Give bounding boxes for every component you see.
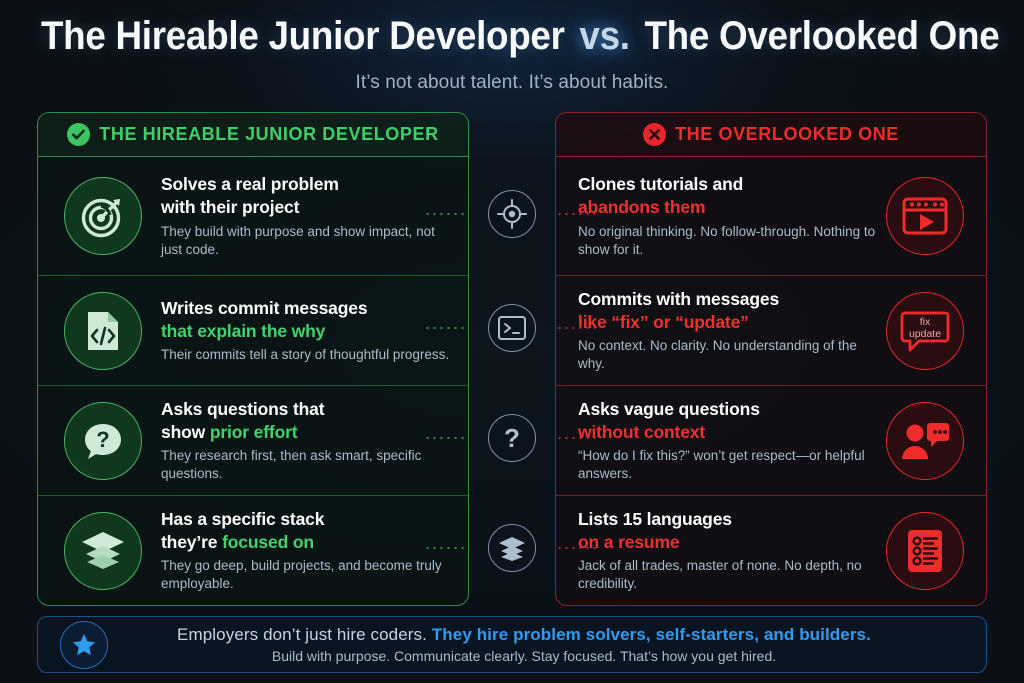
infographic-canvas: The Hireable Junior Developervs.The Over… bbox=[0, 0, 1024, 683]
terminal-prompt-icon bbox=[488, 304, 536, 352]
video-tutorial-icon bbox=[886, 177, 964, 255]
list-item-sub: Jack of all trades, master of none. No d… bbox=[578, 557, 876, 593]
list-item-headline: Asks vague questions without context bbox=[578, 398, 876, 443]
target-icon bbox=[64, 177, 142, 255]
header: The Hireable Junior Developervs.The Over… bbox=[0, 0, 1024, 100]
headline-line2: with their project bbox=[161, 197, 299, 217]
list-item-sub: No original thinking. No follow-through.… bbox=[578, 223, 876, 259]
star-badge-icon bbox=[60, 621, 108, 669]
crosshair-target-icon bbox=[488, 190, 536, 238]
footer-text: Employers don’t just hire coders. They h… bbox=[108, 624, 986, 665]
dotted-line-right bbox=[556, 327, 600, 329]
list-item-headline: Lists 15 languages on a resume bbox=[578, 508, 876, 553]
chat-bubble-text-1: fix bbox=[920, 316, 931, 328]
list-item-headline: Solves a real problem with their project bbox=[161, 173, 458, 218]
headline-line1: Asks vague questions bbox=[578, 399, 760, 419]
page-subtitle: It’s not about talent. It’s about habits… bbox=[0, 72, 1024, 94]
list-item-headline: Clones tutorials and abandons them bbox=[578, 173, 876, 218]
list-item-sub: Their commits tell a story of thoughtful… bbox=[161, 346, 458, 364]
headline-line2-accent: prior effort bbox=[210, 422, 298, 442]
list-item-sub: They go deep, build projects, and become… bbox=[161, 557, 458, 593]
person-chat-icon bbox=[886, 402, 964, 480]
list-item-sub: They research first, then ask smart, spe… bbox=[161, 447, 458, 483]
question-bubble-icon: ? bbox=[64, 402, 142, 480]
layers-icon bbox=[64, 512, 142, 590]
headline-line1: Writes commit messages bbox=[161, 298, 367, 318]
headline-line1: Commits with messages bbox=[578, 289, 779, 309]
list-item: Has a specific stack they’re focused on … bbox=[38, 495, 468, 605]
title-left: The Hireable Junior Developer bbox=[41, 14, 565, 58]
list-item: Clones tutorials and abandons them No or… bbox=[556, 157, 986, 275]
headline-line2-lead: they’re bbox=[161, 532, 222, 552]
list-item: Solves a real problem with their project… bbox=[38, 157, 468, 275]
question-mark-icon: ? bbox=[488, 414, 536, 462]
hireable-rows: Solves a real problem with their project… bbox=[38, 157, 468, 605]
list-item-sub: They build with purpose and show impact,… bbox=[161, 223, 458, 259]
footer-line-1-plain: Employers don’t just hire coders. bbox=[177, 625, 427, 644]
list-item-headline: Commits with messages like “fix” or “upd… bbox=[578, 288, 876, 333]
dotted-line-left bbox=[424, 547, 468, 549]
footer-line-1-accent: They hire problem solvers, self-starters… bbox=[432, 625, 871, 644]
question-mark-glyph: ? bbox=[504, 425, 520, 451]
connector-3: ? bbox=[470, 408, 554, 468]
headline-line1: Asks questions that bbox=[161, 399, 324, 419]
list-item: Commits with messages like “fix” or “upd… bbox=[556, 275, 986, 385]
overlooked-panel: THE OVERLOOKED ONE Clones tutorials and … bbox=[555, 112, 987, 606]
list-item-text: Clones tutorials and abandons them No or… bbox=[556, 173, 886, 258]
list-item-headline: Asks questions that show prior effort bbox=[161, 398, 458, 443]
headline-line2-lead: show bbox=[161, 422, 210, 442]
chat-bubble-icon: fix update bbox=[886, 292, 964, 370]
code-file-icon bbox=[64, 292, 142, 370]
footer-banner: Employers don’t just hire coders. They h… bbox=[37, 616, 987, 673]
page-title: The Hireable Junior Developervs.The Over… bbox=[41, 14, 983, 59]
resume-list-icon bbox=[886, 512, 964, 590]
headline-line1: Clones tutorials and bbox=[578, 174, 743, 194]
dotted-line-right bbox=[556, 437, 600, 439]
dotted-line-left bbox=[424, 437, 468, 439]
headline-line1: Lists 15 languages bbox=[578, 509, 732, 529]
list-item-headline: Writes commit messages that explain the … bbox=[161, 297, 458, 342]
hireable-panel-title: THE HIREABLE JUNIOR DEVELOPER bbox=[99, 124, 438, 145]
chat-bubble-text-2: update bbox=[909, 328, 941, 340]
list-item-text: Commits with messages like “fix” or “upd… bbox=[556, 288, 886, 373]
list-item: ? Asks questions that show prior effort … bbox=[38, 385, 468, 495]
list-item: Writes commit messages that explain the … bbox=[38, 275, 468, 385]
connector-2 bbox=[470, 298, 554, 358]
list-item-text: Solves a real problem with their project… bbox=[142, 173, 468, 258]
hireable-panel: THE HIREABLE JUNIOR DEVELOPER So bbox=[37, 112, 469, 606]
headline-line2: that explain the why bbox=[161, 321, 325, 341]
headline-line1: Has a specific stack bbox=[161, 509, 324, 529]
hireable-panel-header: THE HIREABLE JUNIOR DEVELOPER bbox=[38, 113, 468, 157]
list-item-sub: “How do I fix this?” won’t get respect—o… bbox=[578, 447, 876, 483]
list-item-text: Asks questions that show prior effort Th… bbox=[142, 398, 468, 483]
connector-4 bbox=[470, 518, 554, 578]
overlooked-rows: Clones tutorials and abandons them No or… bbox=[556, 157, 986, 605]
footer-line-1: Employers don’t just hire coders. They h… bbox=[108, 624, 940, 646]
title-right: The Overlooked One bbox=[644, 14, 999, 58]
list-item-headline: Has a specific stack they’re focused on bbox=[161, 508, 458, 553]
footer-line-2: Build with purpose. Communicate clearly.… bbox=[108, 647, 940, 665]
x-circle-icon bbox=[643, 123, 666, 146]
overlooked-panel-title: THE OVERLOOKED ONE bbox=[675, 124, 899, 145]
overlooked-panel-header: THE OVERLOOKED ONE bbox=[556, 113, 986, 157]
headline-line2: like “fix” or “update” bbox=[578, 312, 749, 332]
layers-stack-icon bbox=[488, 524, 536, 572]
title-vs: vs. bbox=[579, 14, 629, 58]
connector-1 bbox=[470, 184, 554, 244]
dotted-line-right bbox=[556, 213, 600, 215]
dotted-line-left bbox=[424, 327, 468, 329]
list-item-text: Asks vague questions without context “Ho… bbox=[556, 398, 886, 483]
svg-text:?: ? bbox=[96, 427, 109, 452]
dotted-line-right bbox=[556, 547, 600, 549]
dotted-line-left bbox=[424, 213, 468, 215]
list-item-text: Writes commit messages that explain the … bbox=[142, 297, 468, 364]
list-item-text: Lists 15 languages on a resume Jack of a… bbox=[556, 508, 886, 593]
list-item-text: Has a specific stack they’re focused on … bbox=[142, 508, 468, 593]
list-item: Lists 15 languages on a resume Jack of a… bbox=[556, 495, 986, 605]
list-item-sub: No context. No clarity. No understanding… bbox=[578, 337, 876, 373]
headline-line1: Solves a real problem bbox=[161, 174, 339, 194]
list-item: Asks vague questions without context “Ho… bbox=[556, 385, 986, 495]
headline-line2-accent: focused on bbox=[222, 532, 314, 552]
check-circle-icon bbox=[67, 123, 90, 146]
